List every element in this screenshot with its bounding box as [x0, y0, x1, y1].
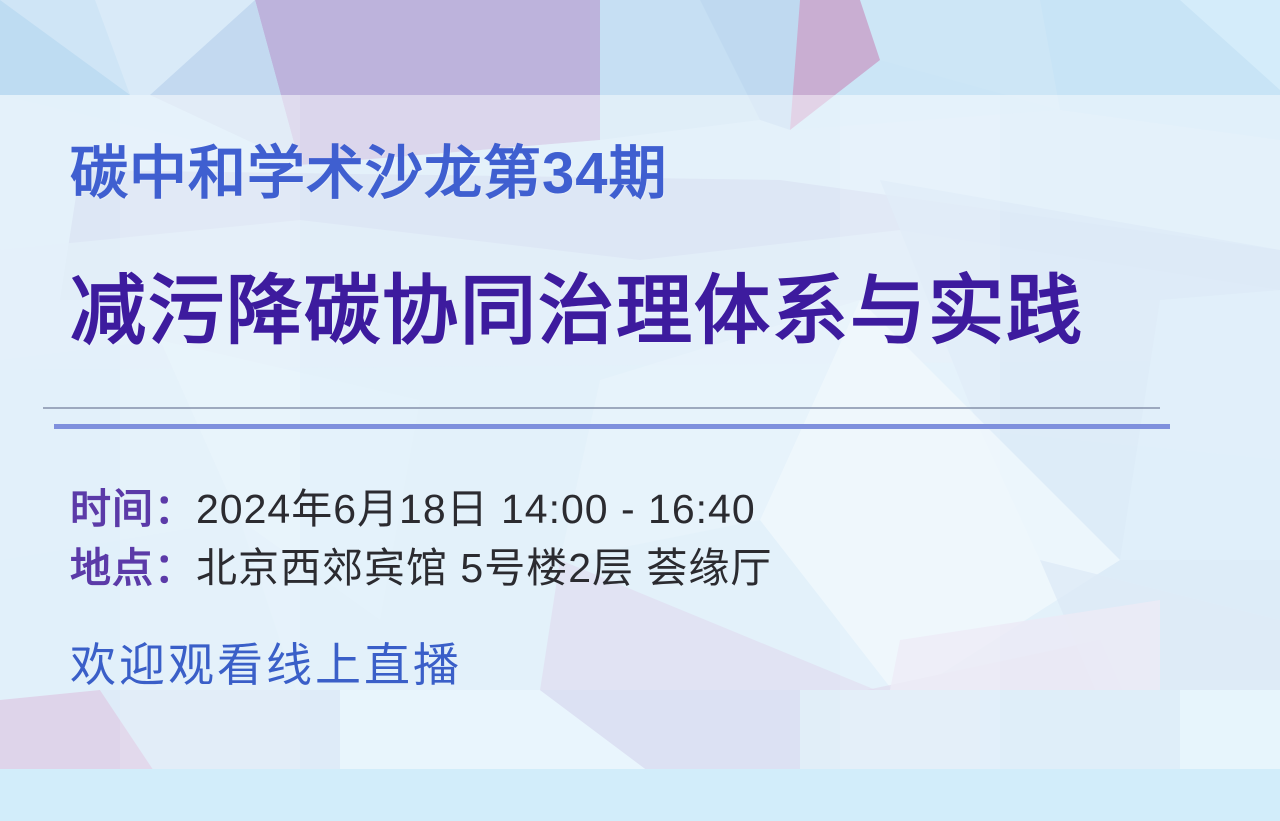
- event-place-label: 地点：: [70, 545, 196, 591]
- event-place-value: 北京西郊宾馆 5号楼2层 荟缘厅: [196, 545, 772, 591]
- event-time-row: 时间：2024年6月18日 14:00 - 16:40: [70, 489, 756, 530]
- event-time-value: 2024年6月18日 14:00 - 16:40: [196, 486, 756, 532]
- divider-thick: [54, 424, 1170, 429]
- divider-thin: [43, 407, 1160, 409]
- poster-kicker: 碳中和学术沙龙第34期: [70, 143, 668, 206]
- event-poster: 碳中和学术沙龙第34期 减污降碳协同治理体系与实践 时间：2024年6月18日 …: [0, 0, 1280, 821]
- poster-headline: 减污降碳协同治理体系与实践: [70, 272, 1084, 352]
- live-stream-note: 欢迎观看线上直播: [70, 629, 462, 695]
- event-time-label: 时间：: [70, 486, 196, 532]
- poster-content: 碳中和学术沙龙第34期 减污降碳协同治理体系与实践 时间：2024年6月18日 …: [0, 0, 1280, 821]
- event-place-row: 地点：北京西郊宾馆 5号楼2层 荟缘厅: [70, 548, 772, 589]
